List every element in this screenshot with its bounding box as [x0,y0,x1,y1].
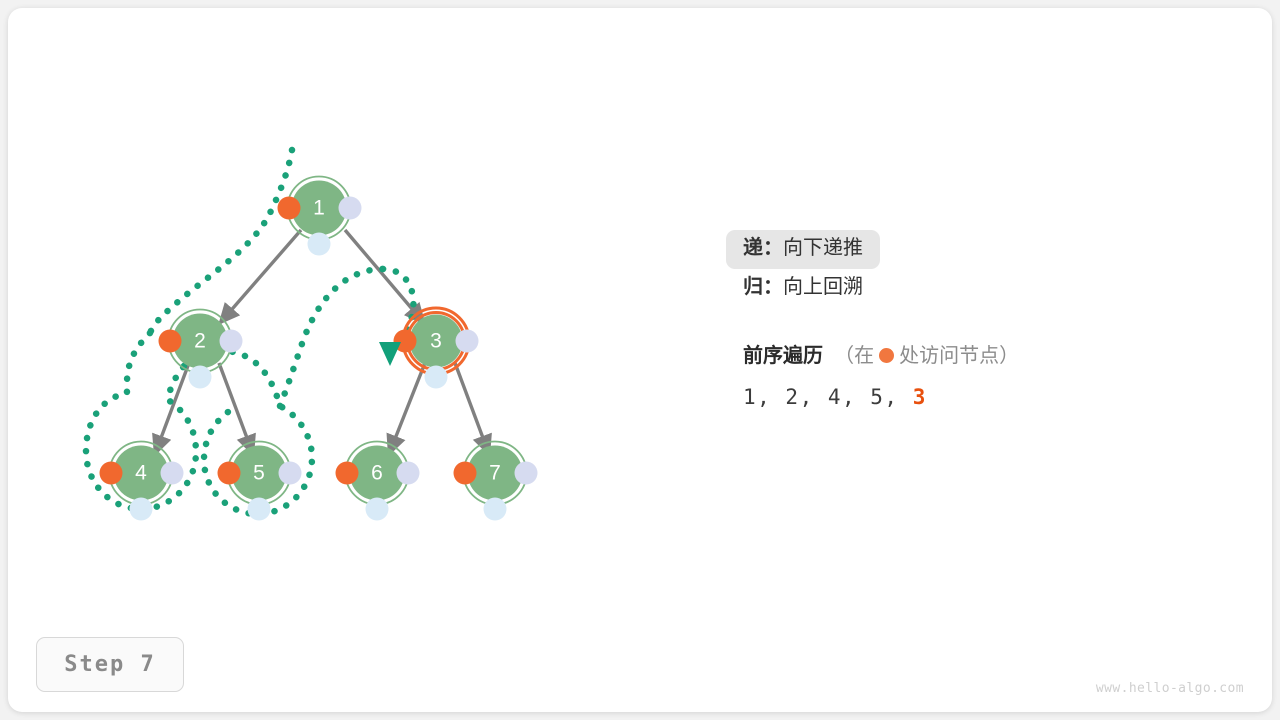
node-4-bottom-port [130,498,153,521]
node-4-visit-dot [100,462,123,485]
sequence-current: 3 [913,385,927,409]
node-1-visit-dot [278,197,301,220]
tree-node-7[interactable]: 7 [454,442,538,521]
recurse-row: 递：向下递推 [726,230,880,269]
tree-node-2[interactable]: 2 [159,310,243,389]
tree-node-4[interactable]: 4 [100,442,184,521]
paren-open-text: （在 [834,345,874,367]
return-row-wrap: 归：向上回溯 [726,269,1146,308]
path-segment-descend [150,150,292,333]
edge-2-4 [155,363,189,454]
node-2-right-port [220,330,243,353]
node-7-right-port [515,462,538,485]
node-7-label: 7 [489,462,501,485]
edge-3-7 [455,363,489,454]
return-label-rest: 向上回溯 [783,276,863,298]
node-5-right-port [279,462,302,485]
node-3-right-port [456,330,479,353]
tree-node-6[interactable]: 6 [336,442,420,521]
visited-sequence: 1, 2, 4, 5, 3 [743,385,1146,409]
node-4-label: 4 [135,462,147,485]
node-6-label: 6 [371,462,383,485]
node-3-label: 3 [430,330,442,353]
node-1-right-port [339,197,362,220]
node-5-visit-dot [218,462,241,485]
watermark-text: www.hello-algo.com [1096,681,1244,696]
node-5-label: 5 [253,462,265,485]
node-4-right-port [161,462,184,485]
visit-dot-icon [879,348,894,363]
sequence-prefix: 1, 2, 4, 5, [743,385,899,409]
return-label-bold: 归： [743,276,783,298]
edge-2-5 [219,363,253,454]
figure-card: 1 2 3 4 [8,8,1272,712]
step-badge: Step 7 [36,637,184,692]
current-pointer-triangle-icon [379,342,401,366]
step-badge-label: Step 7 [64,652,155,677]
node-1-label: 1 [313,197,325,220]
recurse-label-bold: 递： [743,237,783,259]
traversal-order-block: 前序遍历 （在处访问节点） 1, 2, 4, 5, 3 [726,344,1146,409]
node-2-label: 2 [194,330,206,353]
tree-node-3[interactable]: 3 [379,308,479,389]
node-2-bottom-port [189,366,212,389]
node-7-bottom-port [484,498,507,521]
node-6-right-port [397,462,420,485]
node-6-visit-dot [336,462,359,485]
node-3-bottom-port [425,366,448,389]
legend-panel: 递：向下递推 归：向上回溯 前序遍历 （在处访问节点） 1, 2, 4, 5, … [726,230,1146,409]
traversal-order-title: 前序遍历 （在处访问节点） [743,344,1146,368]
node-5-bottom-port [248,498,271,521]
paren-close-text: 处访问节点） [899,345,1019,367]
watermark: www.hello-algo.com [1096,681,1244,696]
recurse-label-rest: 向下递推 [783,237,863,259]
edge-1-2 [220,230,301,323]
edge-3-6 [389,363,425,454]
tree-node-5[interactable]: 5 [218,442,302,521]
node-6-bottom-port [366,498,389,521]
traversal-order-name: 前序遍历 [743,345,823,367]
recurse-row-wrap: 递：向下递推 [726,230,1146,269]
node-2-visit-dot [159,330,182,353]
node-1-bottom-port [308,233,331,256]
path-segment-ascend [280,269,383,406]
node-7-visit-dot [454,462,477,485]
return-row: 归：向上回溯 [726,269,880,308]
